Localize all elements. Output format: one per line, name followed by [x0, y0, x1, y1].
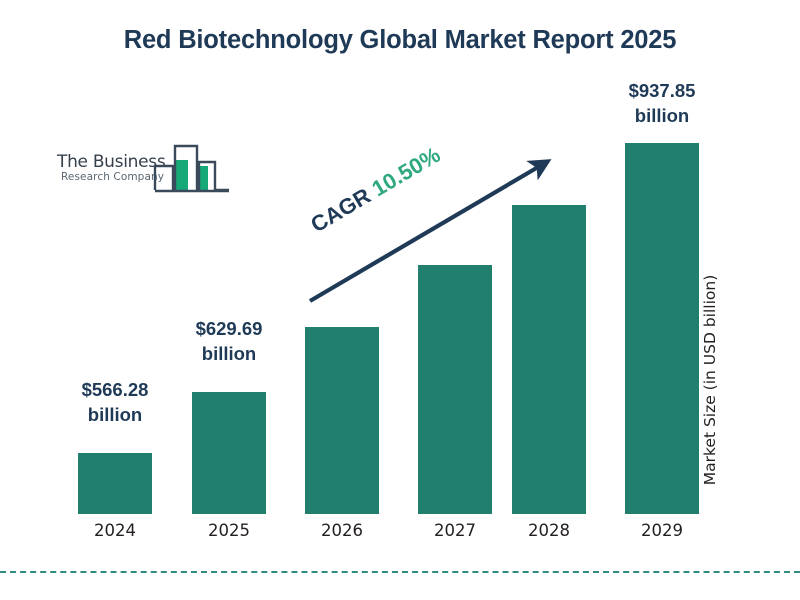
- bar-2028[interactable]: [512, 205, 586, 514]
- cagr-word: CAGR: [306, 180, 380, 238]
- bar-2026[interactable]: [305, 327, 379, 514]
- bar-2024[interactable]: [78, 453, 152, 514]
- x-tick-2026: 2026: [287, 521, 397, 540]
- x-tick-2028: 2028: [494, 521, 604, 540]
- bar-chart-plot-area: $566.28 billion $629.69 billion $937.85 …: [0, 0, 800, 600]
- dashed-divider: [0, 571, 800, 573]
- bar-2029[interactable]: [625, 143, 699, 514]
- y-axis-label: Market Size (in USD billion): [701, 250, 719, 510]
- value-label-2025: $629.69 billion: [154, 317, 304, 367]
- value-label-2024-amount: $566.28: [40, 378, 190, 403]
- x-tick-2024: 2024: [60, 521, 170, 540]
- cagr-value: 10.50%: [367, 142, 444, 201]
- bar-2025[interactable]: [192, 392, 266, 514]
- value-label-2024-unit: billion: [40, 403, 190, 428]
- bar-2027[interactable]: [418, 265, 492, 514]
- x-tick-2029: 2029: [607, 521, 717, 540]
- value-label-2029-unit: billion: [587, 104, 737, 129]
- cagr-annotation: CAGR 10.50%: [306, 142, 445, 238]
- value-label-2024: $566.28 billion: [40, 378, 190, 428]
- value-label-2025-unit: billion: [154, 342, 304, 367]
- value-label-2029: $937.85 billion: [587, 79, 737, 129]
- value-label-2029-amount: $937.85: [587, 79, 737, 104]
- value-label-2025-amount: $629.69: [154, 317, 304, 342]
- x-tick-2025: 2025: [174, 521, 284, 540]
- chart-canvas: Red Biotechnology Global Market Report 2…: [0, 0, 800, 600]
